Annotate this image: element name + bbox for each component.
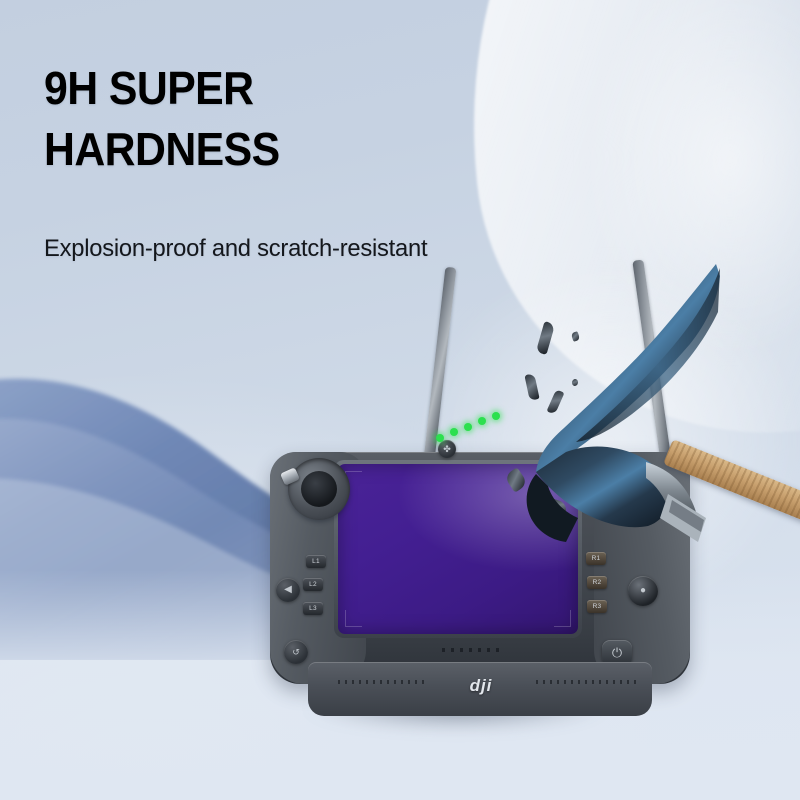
button-l1[interactable]: L1 bbox=[306, 555, 326, 568]
right-speaker-grille bbox=[536, 680, 636, 684]
control-dial[interactable]: ● bbox=[628, 576, 658, 606]
focus-corner-icon bbox=[345, 610, 362, 627]
port-row bbox=[442, 648, 502, 652]
left-speaker-grille bbox=[338, 680, 428, 684]
button-l2[interactable]: L2 bbox=[303, 578, 323, 591]
custom-button-c1[interactable]: ✤ bbox=[438, 440, 456, 458]
button-r3[interactable]: R3 bbox=[587, 600, 607, 613]
hammer-head bbox=[520, 250, 800, 580]
left-stick[interactable] bbox=[288, 458, 350, 520]
back-button[interactable]: ◀ bbox=[276, 578, 300, 602]
product-poster: 9H SUPER HARDNESS Explosion-proof and sc… bbox=[0, 0, 800, 800]
focus-corner-icon bbox=[554, 610, 571, 627]
copy-block: 9H SUPER HARDNESS Explosion-proof and sc… bbox=[44, 58, 584, 263]
page-title: 9H SUPER HARDNESS bbox=[44, 58, 546, 179]
status-led bbox=[492, 412, 500, 420]
status-led bbox=[464, 423, 472, 431]
claw-hammer bbox=[520, 250, 800, 580]
dji-logo: dji bbox=[470, 676, 493, 696]
status-led bbox=[436, 434, 444, 442]
status-led bbox=[478, 417, 486, 425]
status-led bbox=[450, 428, 458, 436]
return-to-home-button[interactable]: ↺ bbox=[284, 640, 308, 664]
page-subtitle: Explosion-proof and scratch-resistant bbox=[44, 235, 568, 263]
button-l3[interactable]: L3 bbox=[303, 602, 323, 615]
